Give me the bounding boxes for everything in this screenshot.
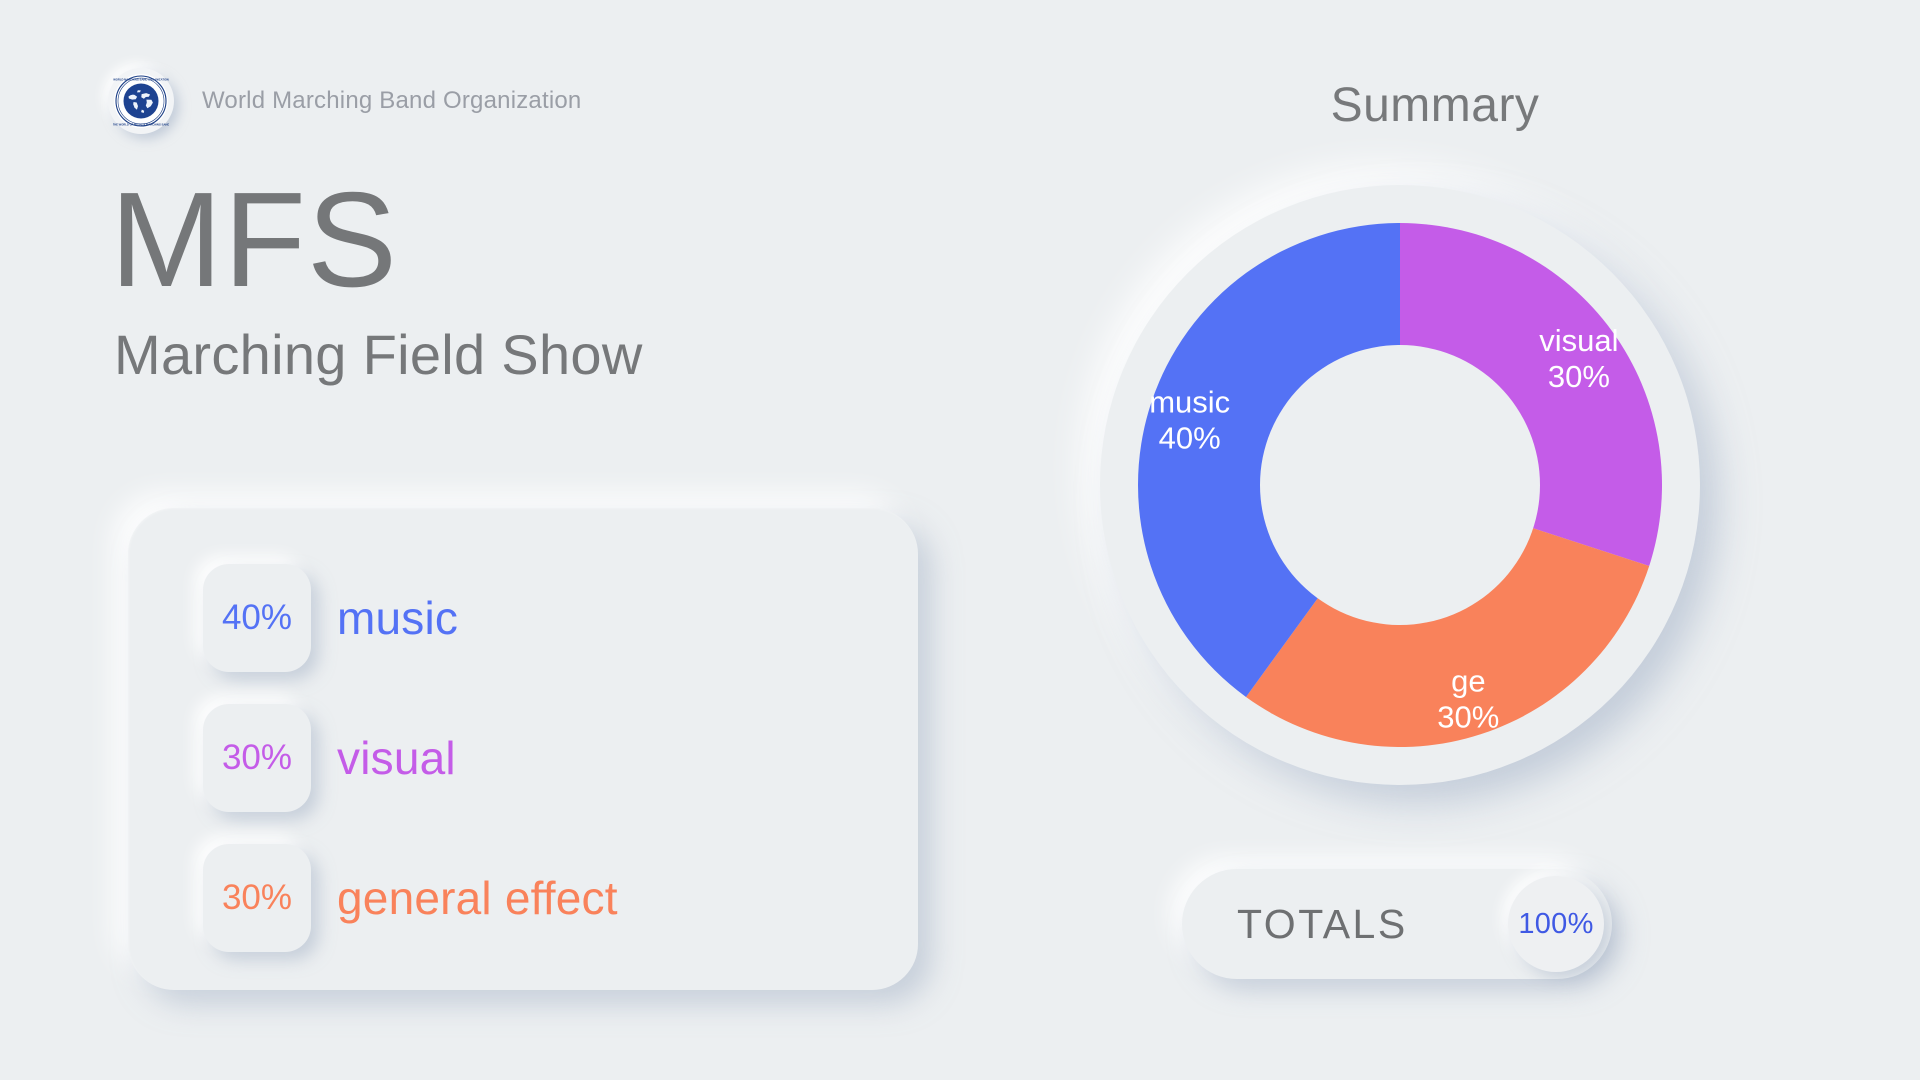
legend-label: visual (337, 735, 456, 781)
legend-percent-badge: 30% (203, 704, 311, 812)
legend-card: 40% music 30% visual 30% general effect (128, 508, 918, 990)
page-title: MFS (110, 172, 643, 307)
slice-percent: 30% (1437, 699, 1499, 734)
slice-percent: 30% (1548, 359, 1610, 394)
totals-knob[interactable]: 100% (1508, 876, 1604, 972)
page-subtitle: Marching Field Show (114, 327, 643, 383)
left-panel: WORLD MARCHING BAND ORGANIZATION THE WOR… (0, 0, 950, 1080)
legend-percent-badge: 30% (203, 844, 311, 952)
totals-toggle[interactable]: TOTALS 100% (1182, 869, 1612, 979)
slice-name: music (1149, 385, 1230, 420)
title-block: MFS Marching Field Show (110, 172, 643, 383)
slice-name: visual (1539, 323, 1618, 358)
slice-name: ge (1451, 663, 1485, 698)
globe-emblem-icon: WORLD MARCHING BAND ORGANIZATION THE WOR… (108, 68, 174, 134)
donut-center-hole (1260, 345, 1540, 625)
legend-label: general effect (337, 875, 618, 921)
legend-row-visual[interactable]: 30% visual (203, 704, 618, 812)
donut-chart: visual30%ge30%music40% (1100, 185, 1700, 785)
legend-row-music[interactable]: 40% music (203, 564, 618, 672)
slice-percent: 40% (1159, 421, 1221, 456)
summary-heading: Summary (950, 78, 1920, 133)
svg-text:WORLD MARCHING BAND ORGANIZATI: WORLD MARCHING BAND ORGANIZATION (113, 77, 169, 81)
legend-label: music (337, 595, 458, 641)
organization-name: World Marching Band Organization (202, 87, 581, 115)
legend-row-general-effect[interactable]: 30% general effect (203, 844, 618, 952)
right-panel: Summary visual30%ge30%music40% TOTALS 10… (950, 0, 1920, 1080)
svg-text:THE WORLD OF MUSIC & MARCHING: THE WORLD OF MUSIC & MARCHING BAND (113, 122, 169, 126)
totals-value: 100% (1518, 908, 1593, 941)
legend-percent-badge: 40% (203, 564, 311, 672)
brand-row: WORLD MARCHING BAND ORGANIZATION THE WOR… (108, 68, 581, 134)
legend-list: 40% music 30% visual 30% general effect (203, 564, 618, 952)
totals-label: TOTALS (1237, 901, 1408, 948)
